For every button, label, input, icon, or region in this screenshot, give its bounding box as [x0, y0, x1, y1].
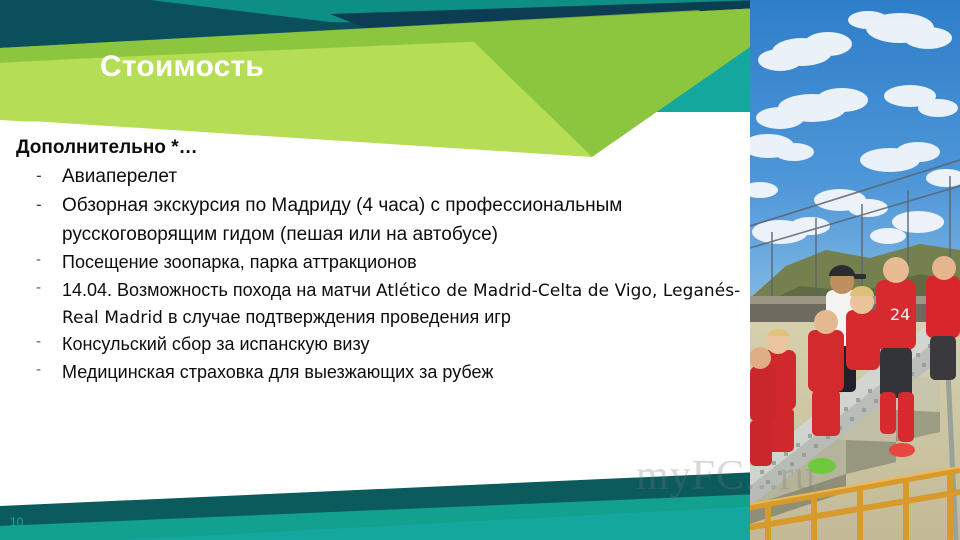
list-item: - Авиаперелет — [36, 163, 748, 192]
list-item-label: Посещение зоопарка, парка аттракционов — [62, 252, 417, 272]
body-lead-text: Дополнительно *… — [16, 136, 748, 160]
bullet-dash-icon: - — [36, 249, 41, 272]
bullet-list: - Авиаперелет - Обзорная экскурсия по Ма… — [0, 163, 748, 386]
list-item-label: Обзорная экскурсия по Мадриду (4 часа) с… — [62, 195, 622, 245]
list-item-label: Авиаперелет — [62, 166, 177, 187]
bullet-dash-icon: - — [36, 163, 42, 189]
list-item: - Обзорная экскурсия по Мадриду (4 часа)… — [36, 192, 748, 250]
bullet-dash-icon: - — [36, 359, 41, 382]
bullet-dash-icon: - — [36, 331, 41, 354]
list-item: - Медицинская страховка для выезжающих з… — [36, 359, 748, 386]
bullet-dash-icon: - — [36, 192, 42, 218]
list-item-label: Медицинская страховка для выезжающих за … — [62, 362, 493, 382]
list-item-label-pre: 14.04. Возможность похода на матчи — [62, 280, 376, 300]
list-item: - Посещение зоопарка, парка аттракционов — [36, 249, 748, 276]
list-item: - Консульский сбор за испанскую визу — [36, 331, 748, 358]
list-item-label: Консульский сбор за испанскую визу — [62, 334, 370, 354]
presentation-slide: Стоимость Дополнительно *… - Авиаперелет… — [0, 0, 960, 540]
svg-text:24: 24 — [890, 305, 910, 324]
list-item-label-post: в случае подтверждения проведения игр — [163, 307, 511, 327]
slide-body: Дополнительно *… - Авиаперелет - Обзорна… — [0, 136, 748, 386]
list-item: - 14.04. Возможность похода на матчи Atl… — [36, 277, 748, 332]
photo-youth-football-team: 24 — [750, 0, 960, 540]
page-title: Стоимость — [100, 50, 264, 84]
page-number: 10 — [10, 515, 23, 529]
bullet-dash-icon: - — [36, 277, 41, 300]
footer-decoration — [0, 460, 760, 540]
